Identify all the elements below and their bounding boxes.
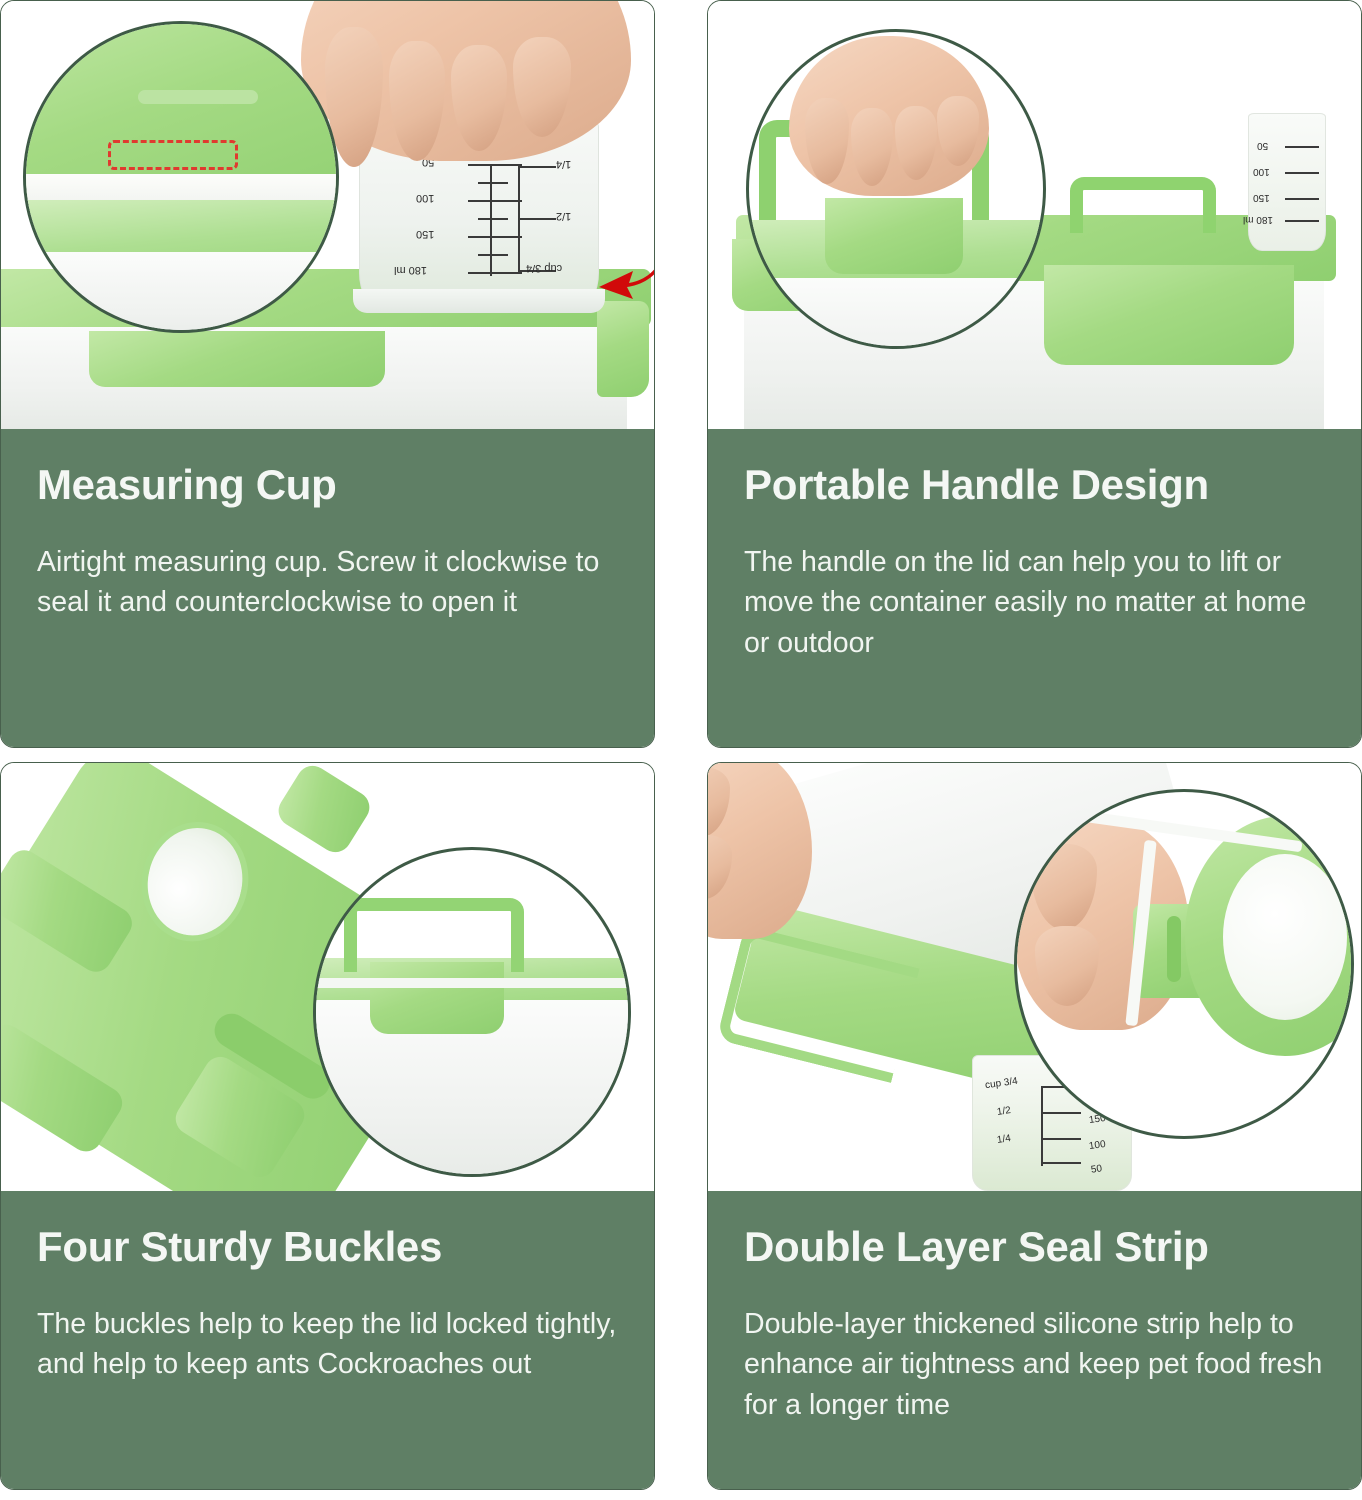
panel-description: The handle on the lid can help you to li… bbox=[744, 542, 1325, 664]
rotation-arrow-icon bbox=[593, 229, 654, 301]
magnifier-inset-closed-buckle bbox=[313, 847, 631, 1177]
feature-panel-double-layer-seal-strip: cup 3/4 1/2 1/4 180 ml 150 100 50 bbox=[707, 762, 1362, 1490]
cup-tick-100: 100 bbox=[416, 192, 434, 204]
feature-panel-portable-handle-design: 50 100 150 180 ml Portable Handle Desig bbox=[707, 0, 1362, 748]
hand bbox=[789, 36, 989, 196]
panel-title: Portable Handle Design bbox=[744, 463, 1325, 508]
cup-tick-50: 50 bbox=[1090, 1163, 1103, 1175]
panel-title: Measuring Cup bbox=[37, 463, 618, 508]
cup-tick-150: 150 bbox=[416, 228, 434, 240]
cup-tick-150: 150 bbox=[1253, 192, 1270, 203]
product-photo-seal-strip: cup 3/4 1/2 1/4 180 ml 150 100 50 bbox=[708, 763, 1361, 1191]
magnifier-inset-handle-grip bbox=[746, 29, 1046, 349]
cup-tick-180ml: 180 ml bbox=[394, 264, 427, 276]
product-photo-measuring-cup: 50 100 150 180 ml 1/4 1/2 cup 3/4 bbox=[1, 1, 654, 429]
caption-double-layer-seal-strip: Double Layer Seal Strip Double-layer thi… bbox=[708, 1191, 1361, 1489]
lid-buckle-3 bbox=[273, 763, 376, 858]
magnifier-inset-lid-groove bbox=[23, 21, 339, 333]
cup-tick-quarter: 1/4 bbox=[996, 1133, 1011, 1146]
lid-buckle-side bbox=[597, 301, 649, 397]
lid-buckle-front bbox=[89, 331, 385, 387]
panel-description: Airtight measuring cup. Screw it clockwi… bbox=[37, 542, 618, 624]
buckle-rib bbox=[1167, 916, 1181, 982]
seal-strip-line bbox=[313, 978, 631, 988]
panel-title: Double Layer Seal Strip bbox=[744, 1225, 1325, 1270]
cup-tick-100: 100 bbox=[1088, 1139, 1106, 1152]
panel-title: Four Sturdy Buckles bbox=[37, 1225, 618, 1270]
measuring-cup: 50 100 150 180 ml bbox=[1248, 113, 1326, 251]
cup-tick-three-quarter: cup 3/4 bbox=[526, 262, 562, 274]
lid-inner-disc bbox=[1223, 854, 1347, 1020]
cup-tick-180ml: 180 ml bbox=[1243, 214, 1273, 225]
cup-tick-quarter: 1/4 bbox=[556, 158, 571, 170]
cup-tick-half: 1/2 bbox=[996, 1105, 1011, 1118]
feature-panel-measuring-cup: 50 100 150 180 ml 1/4 1/2 cup 3/4 bbox=[0, 0, 655, 748]
cup-tick-half: 1/2 bbox=[556, 210, 571, 222]
measuring-cup-port bbox=[131, 812, 260, 951]
caption-measuring-cup: Measuring Cup Airtight measuring cup. Sc… bbox=[1, 429, 654, 747]
caption-four-sturdy-buckles: Four Sturdy Buckles The buckles help to … bbox=[1, 1191, 654, 1489]
caption-portable-handle-design: Portable Handle Design The handle on the… bbox=[708, 429, 1361, 747]
cup-tick-50: 50 bbox=[1257, 140, 1268, 151]
red-dashed-highlight bbox=[108, 140, 238, 170]
carry-handle bbox=[1070, 177, 1216, 233]
feature-grid: 50 100 150 180 ml 1/4 1/2 cup 3/4 bbox=[0, 0, 1362, 1500]
carry-handle-zoom bbox=[344, 898, 524, 972]
panel-description: The buckles help to keep the lid locked … bbox=[37, 1304, 618, 1386]
measuring-cup-rim bbox=[353, 289, 605, 313]
product-photo-four-buckles bbox=[1, 763, 654, 1191]
magnifier-inset-seal-strip bbox=[1014, 789, 1354, 1139]
product-photo-portable-handle: 50 100 150 180 ml bbox=[708, 1, 1361, 429]
buckle-zoom bbox=[370, 962, 504, 1034]
cup-tick-three-quarter: cup 3/4 bbox=[984, 1076, 1018, 1091]
feature-panel-four-sturdy-buckles: Four Sturdy Buckles The buckles help to … bbox=[0, 762, 655, 1490]
lid-buckle-right bbox=[1044, 265, 1294, 365]
panel-description: Double-layer thickened silicone strip he… bbox=[744, 1304, 1325, 1426]
cup-tick-100: 100 bbox=[1253, 166, 1270, 177]
